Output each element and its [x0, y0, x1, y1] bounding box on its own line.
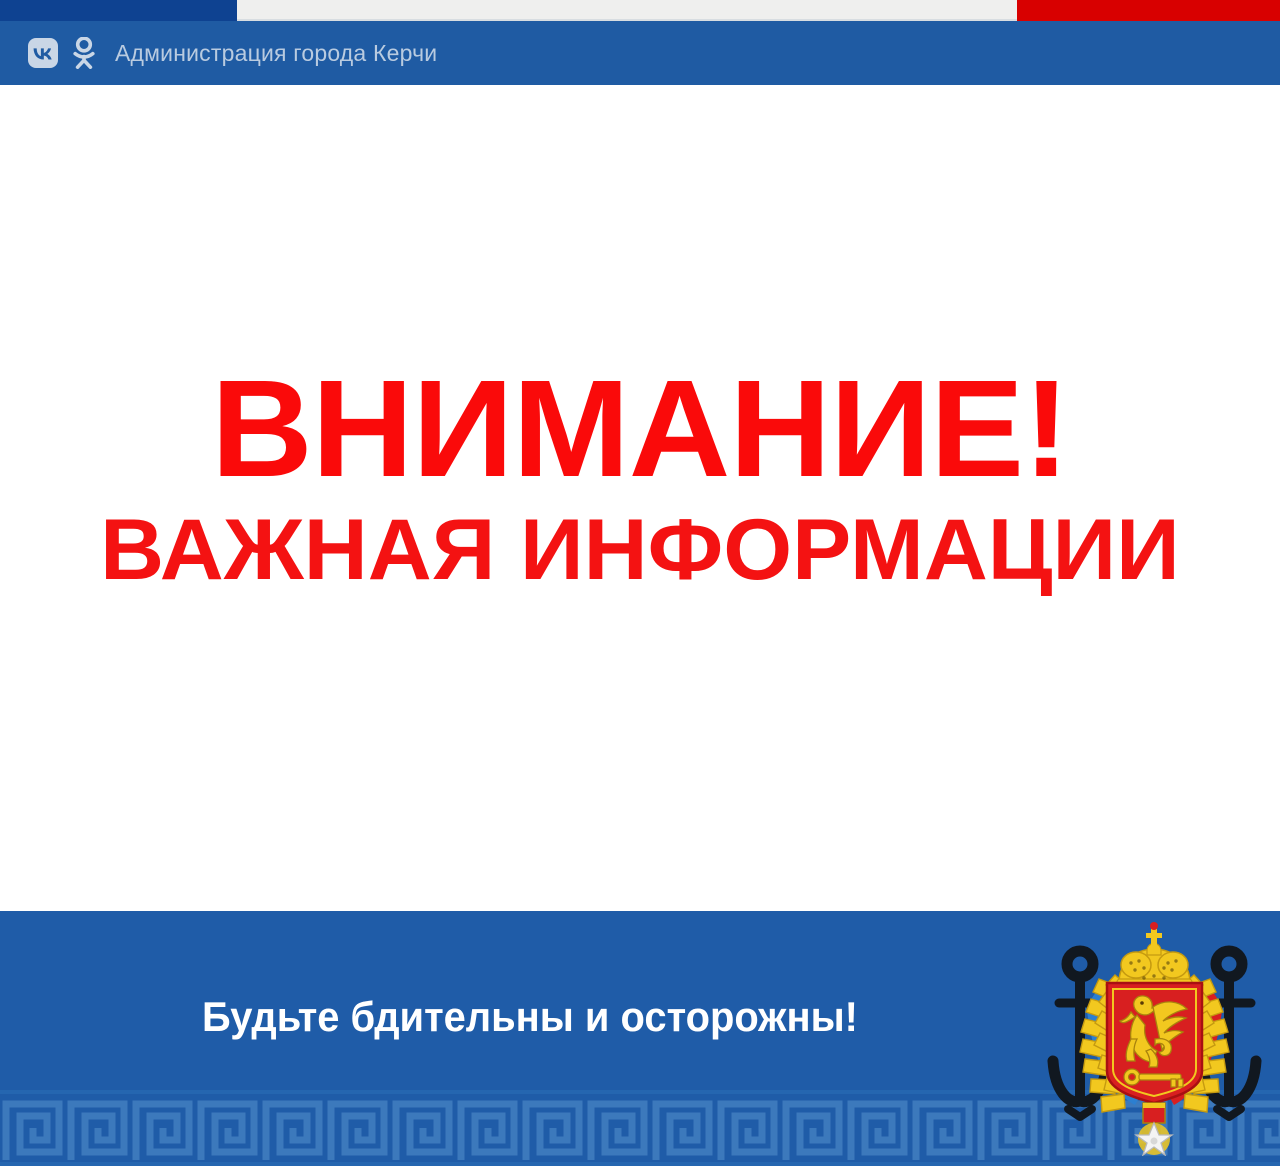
top-tricolor-strip	[0, 0, 1280, 21]
poster-area: ВНИМАНИЕ! ВАЖНАЯ ИНФОРМАЦИИ	[0, 85, 1280, 911]
poster-headline: ВНИМАНИЕ!	[99, 363, 1180, 495]
strip-segment-white	[237, 0, 1017, 21]
header-title: Администрация города Керчи	[115, 40, 437, 67]
star-medal	[1136, 1123, 1172, 1155]
kerch-coat-of-arms	[1047, 921, 1262, 1156]
strip-segment-red	[1017, 0, 1280, 21]
bottom-banner: Будьте бдительны и осторожны!	[0, 911, 1280, 1166]
strip-segment-blue	[0, 0, 237, 21]
poster-subheadline: ВАЖНАЯ ИНФОРМАЦИИ	[94, 507, 1186, 593]
banner-caption: Будьте бдительны и осторожны!	[27, 993, 1034, 1041]
headline-block: ВНИМАНИЕ! ВАЖНАЯ ИНФОРМАЦИИ	[110, 363, 1170, 593]
ok-icon[interactable]	[71, 37, 97, 69]
social-icon-group	[28, 37, 97, 69]
imperial-crown	[1117, 922, 1192, 987]
vk-icon[interactable]	[28, 38, 58, 68]
header-bar: Администрация города Керчи	[0, 21, 1280, 85]
